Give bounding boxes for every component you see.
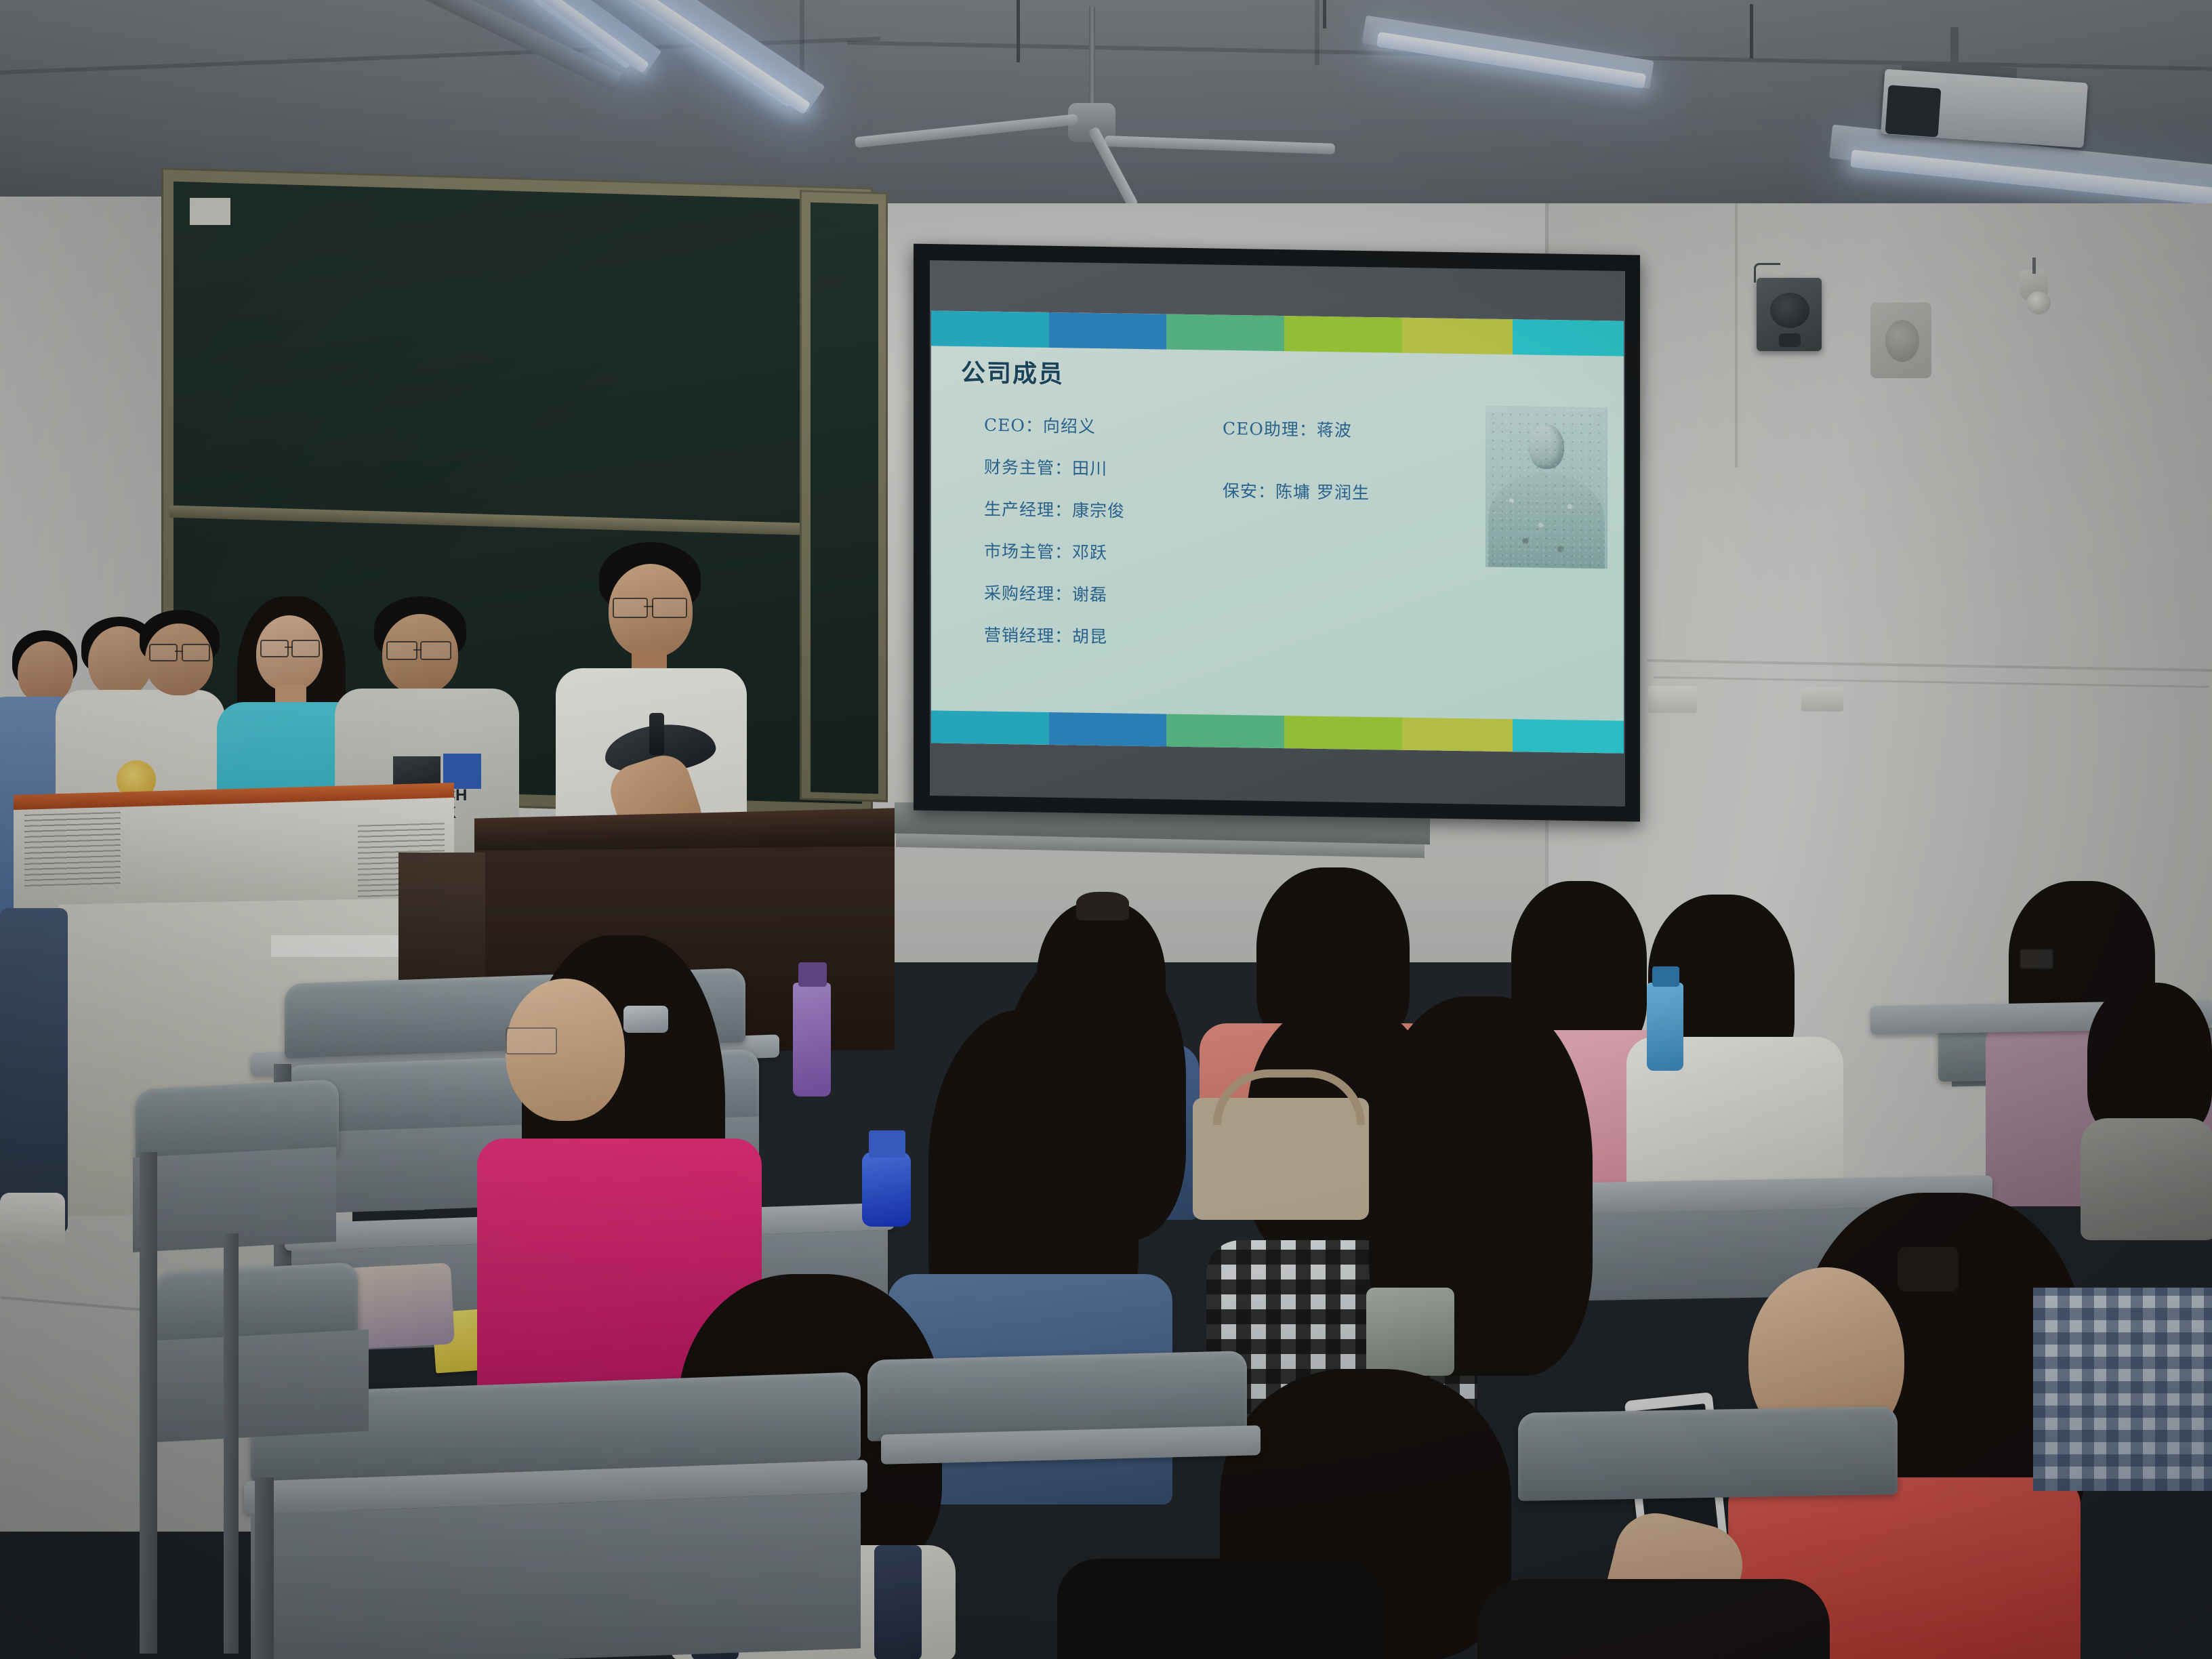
- audience-front-silhouette: [1477, 1579, 1830, 1659]
- accent-swatch-3: [1284, 716, 1402, 750]
- projector-mount-arm: [1950, 27, 1959, 69]
- glasses: [506, 1027, 557, 1054]
- roster-line: 采购经理：谢磊: [984, 580, 1208, 608]
- seat-leg: [140, 1152, 157, 1654]
- audience-grey-right: [2087, 983, 2212, 1227]
- roster-line: 营销经理：胡昆: [984, 622, 1208, 650]
- presentation-slide: 公司成员 CEO：向绍义 财务主管：田川 生产经理：康宗俊 市场主管：邓跃 采购…: [931, 310, 1624, 753]
- glasses-bridge: [413, 649, 422, 651]
- hair-clip: [623, 1006, 668, 1033]
- ceiling-hanger: [1750, 4, 1753, 58]
- seat-back: [1518, 1406, 1898, 1501]
- glasses: [613, 598, 648, 618]
- hair-tie: [1898, 1247, 1959, 1292]
- glasses: [182, 644, 210, 661]
- presentation-clicker: [649, 713, 664, 755]
- presenter-blue-shirt-lower: [0, 908, 68, 1233]
- sculpture-texture: [1486, 406, 1607, 569]
- accent-swatch-4: [1402, 318, 1513, 354]
- wall-speaker-cone: [1885, 320, 1919, 362]
- accent-swatch-5: [1513, 319, 1624, 356]
- accent-swatch-0: [931, 310, 1049, 348]
- seat-leg: [224, 1233, 239, 1654]
- roster-line: CEO：向绍义: [984, 412, 1208, 440]
- glasses: [386, 641, 417, 660]
- glasses: [2020, 949, 2053, 969]
- shoe: [0, 1193, 65, 1250]
- audience-front-silhouette: [1057, 1559, 1382, 1659]
- roster-line: CEO助理：蒋波: [1223, 415, 1439, 443]
- accent-swatch-1: [1049, 312, 1167, 350]
- security-camera-lens: [2026, 291, 2051, 314]
- speaker-cable: [1754, 263, 1780, 283]
- projector-lens: [1885, 85, 1942, 137]
- chalkboard-note: [190, 198, 230, 225]
- glasses: [652, 598, 687, 618]
- glasses: [260, 640, 289, 657]
- overall-strap: [874, 1545, 922, 1659]
- wall-line: [1735, 203, 1738, 468]
- slide-photo-sculpture: [1486, 406, 1607, 569]
- ceiling-seam: [1315, 0, 1319, 65]
- strap: [1366, 1288, 1454, 1376]
- bottle-cap: [1652, 966, 1679, 987]
- seat-leg: [255, 1477, 274, 1659]
- roster-line: 生产经理：康宗俊: [984, 496, 1208, 524]
- classroom-photo-scene: 公司成员 CEO：向绍义 财务主管：田川 生产经理：康宗俊 市场主管：邓跃 采购…: [0, 0, 2212, 1659]
- slide-roster-left: CEO：向绍义 财务主管：田川 生产经理：康宗俊 市场主管：邓跃 采购经理：谢磊…: [984, 412, 1208, 668]
- light-blue-bottle: [1647, 983, 1683, 1071]
- glasses: [291, 640, 320, 657]
- wall-outlet: [1801, 687, 1843, 712]
- glasses-bridge: [644, 606, 653, 607]
- roster-line: 保安：陈墉 罗润生: [1223, 478, 1439, 506]
- shirt: [2081, 1118, 2212, 1240]
- plaid-shirt: [2033, 1288, 2212, 1491]
- accent-swatch-1: [1049, 712, 1167, 747]
- accent-swatch-3: [1284, 316, 1402, 353]
- ceiling-hanger: [1017, 0, 1020, 62]
- accent-swatch-2: [1166, 714, 1284, 749]
- wall-speaker-cone: [1770, 293, 1809, 328]
- slide-title: 公司成员: [961, 353, 1064, 390]
- ceiling-hanger: [1323, 0, 1326, 28]
- slide-roster-right: CEO助理：蒋波 保安：陈墉 罗润生: [1223, 415, 1439, 544]
- chalkboard-right-panel: [811, 203, 878, 794]
- wall-switch-box: [1648, 686, 1697, 713]
- accent-swatch-5: [1513, 719, 1624, 753]
- glasses-bridge: [285, 647, 293, 648]
- glasses: [149, 644, 178, 661]
- desk-panel: [152, 1330, 369, 1443]
- desk-panel: [251, 1492, 861, 1659]
- purple-bottle: [793, 983, 831, 1097]
- hair: [2087, 983, 2212, 1139]
- accent-swatch-4: [1402, 718, 1513, 752]
- camera-mount: [2032, 258, 2036, 274]
- lectern-label: [271, 935, 407, 957]
- roster-line: 财务主管：田川: [984, 454, 1208, 482]
- accent-swatch-2: [1166, 314, 1284, 352]
- ceiling-fan-rod: [1089, 7, 1095, 108]
- audience-plaid-right: [2033, 1206, 2212, 1491]
- hair-bun: [1076, 892, 1129, 920]
- wall-speaker-tweeter: [1779, 333, 1801, 347]
- accent-swatch-0: [931, 710, 1049, 745]
- roster-line: 市场主管：邓跃: [984, 538, 1208, 566]
- glasses-bridge: [175, 651, 183, 652]
- bottle-cap: [869, 1130, 905, 1158]
- bottle-cap: [798, 962, 827, 987]
- glasses: [420, 641, 451, 660]
- lectern-vent-left: [24, 812, 121, 890]
